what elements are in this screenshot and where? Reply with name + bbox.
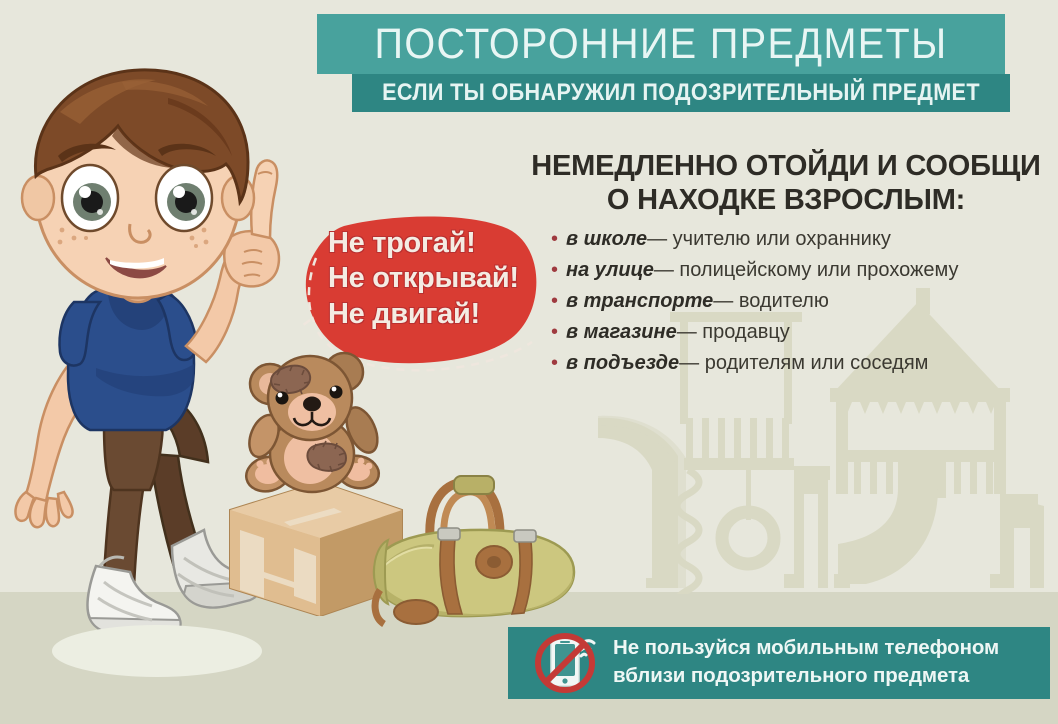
list-item: • в подъезде — родителям или соседям xyxy=(551,353,1051,373)
list-item-recipient: — учителю или охраннику xyxy=(647,229,891,249)
bullet-icon: • xyxy=(551,322,558,342)
no-mobile-phone-icon xyxy=(533,630,609,696)
footer-line-2: вблизи подозрительного предмета xyxy=(613,662,1043,690)
list-item: • в школе — учителю или охраннику xyxy=(551,229,1051,249)
bubble-line-2: Не открывай! xyxy=(328,261,564,296)
list-item: • в магазине — продавцу xyxy=(551,322,1051,342)
main-heading-line-1: НЕМЕДЛЕННО ОТОЙДИ И СООБЩИ xyxy=(530,150,1042,184)
list-item-recipient: — полицейскому или прохожему xyxy=(654,260,959,280)
poster-canvas: ПОСТОРОННИЕ ПРЕДМЕТЫ ЕСЛИ ТЫ ОБНАРУЖИЛ П… xyxy=(0,0,1058,724)
bubble-text: Не трогай! Не открывай! Не двигай! xyxy=(328,226,564,332)
duffel-bag xyxy=(358,462,588,632)
list-item-location: в подъезде xyxy=(566,353,679,373)
bubble-line-3: Не двигай! xyxy=(328,297,564,332)
list-item-location: в магазине xyxy=(566,322,677,342)
footer-line-1: Не пользуйся мобильным телефоном xyxy=(613,634,1043,662)
bullet-icon: • xyxy=(551,229,558,249)
list-item-recipient: — родителям или соседям xyxy=(679,353,928,373)
character-shadow xyxy=(52,625,262,677)
warning-speech-bubble: Не трогай! Не открывай! Не двигай! xyxy=(300,212,570,372)
main-heading: НЕМЕДЛЕННО ОТОЙДИ И СООБЩИ О НАХОДКЕ ВЗР… xyxy=(530,150,1042,217)
list-item: • на улице — полицейскому или прохожему xyxy=(551,260,1051,280)
poster-subtitle: ЕСЛИ ТЫ ОБНАРУЖИЛ ПОДОЗРИТЕЛЬНЫЙ ПРЕДМЕТ xyxy=(385,74,977,112)
list-item-location: в транспорте xyxy=(566,291,713,311)
list-item-recipient: — водителю xyxy=(713,291,829,311)
bubble-line-1: Не трогай! xyxy=(328,226,564,261)
list-item-location: на улице xyxy=(566,260,654,280)
list-item: • в транспорте — водителю xyxy=(551,291,1051,311)
bullet-icon: • xyxy=(551,353,558,373)
poster-title: ПОСТОРОННИЕ ПРЕДМЕТЫ xyxy=(345,14,978,74)
footer-text: Не пользуйся мобильным телефоном вблизи … xyxy=(613,634,1043,689)
bullet-icon: • xyxy=(551,291,558,311)
instruction-list: • в школе — учителю или охраннику • на у… xyxy=(551,229,1051,384)
bullet-icon: • xyxy=(551,260,558,280)
list-item-recipient: — продавцу xyxy=(677,322,790,342)
list-item-location: в школе xyxy=(566,229,647,249)
main-heading-line-2: О НАХОДКЕ ВЗРОСЛЫМ: xyxy=(530,184,1042,218)
